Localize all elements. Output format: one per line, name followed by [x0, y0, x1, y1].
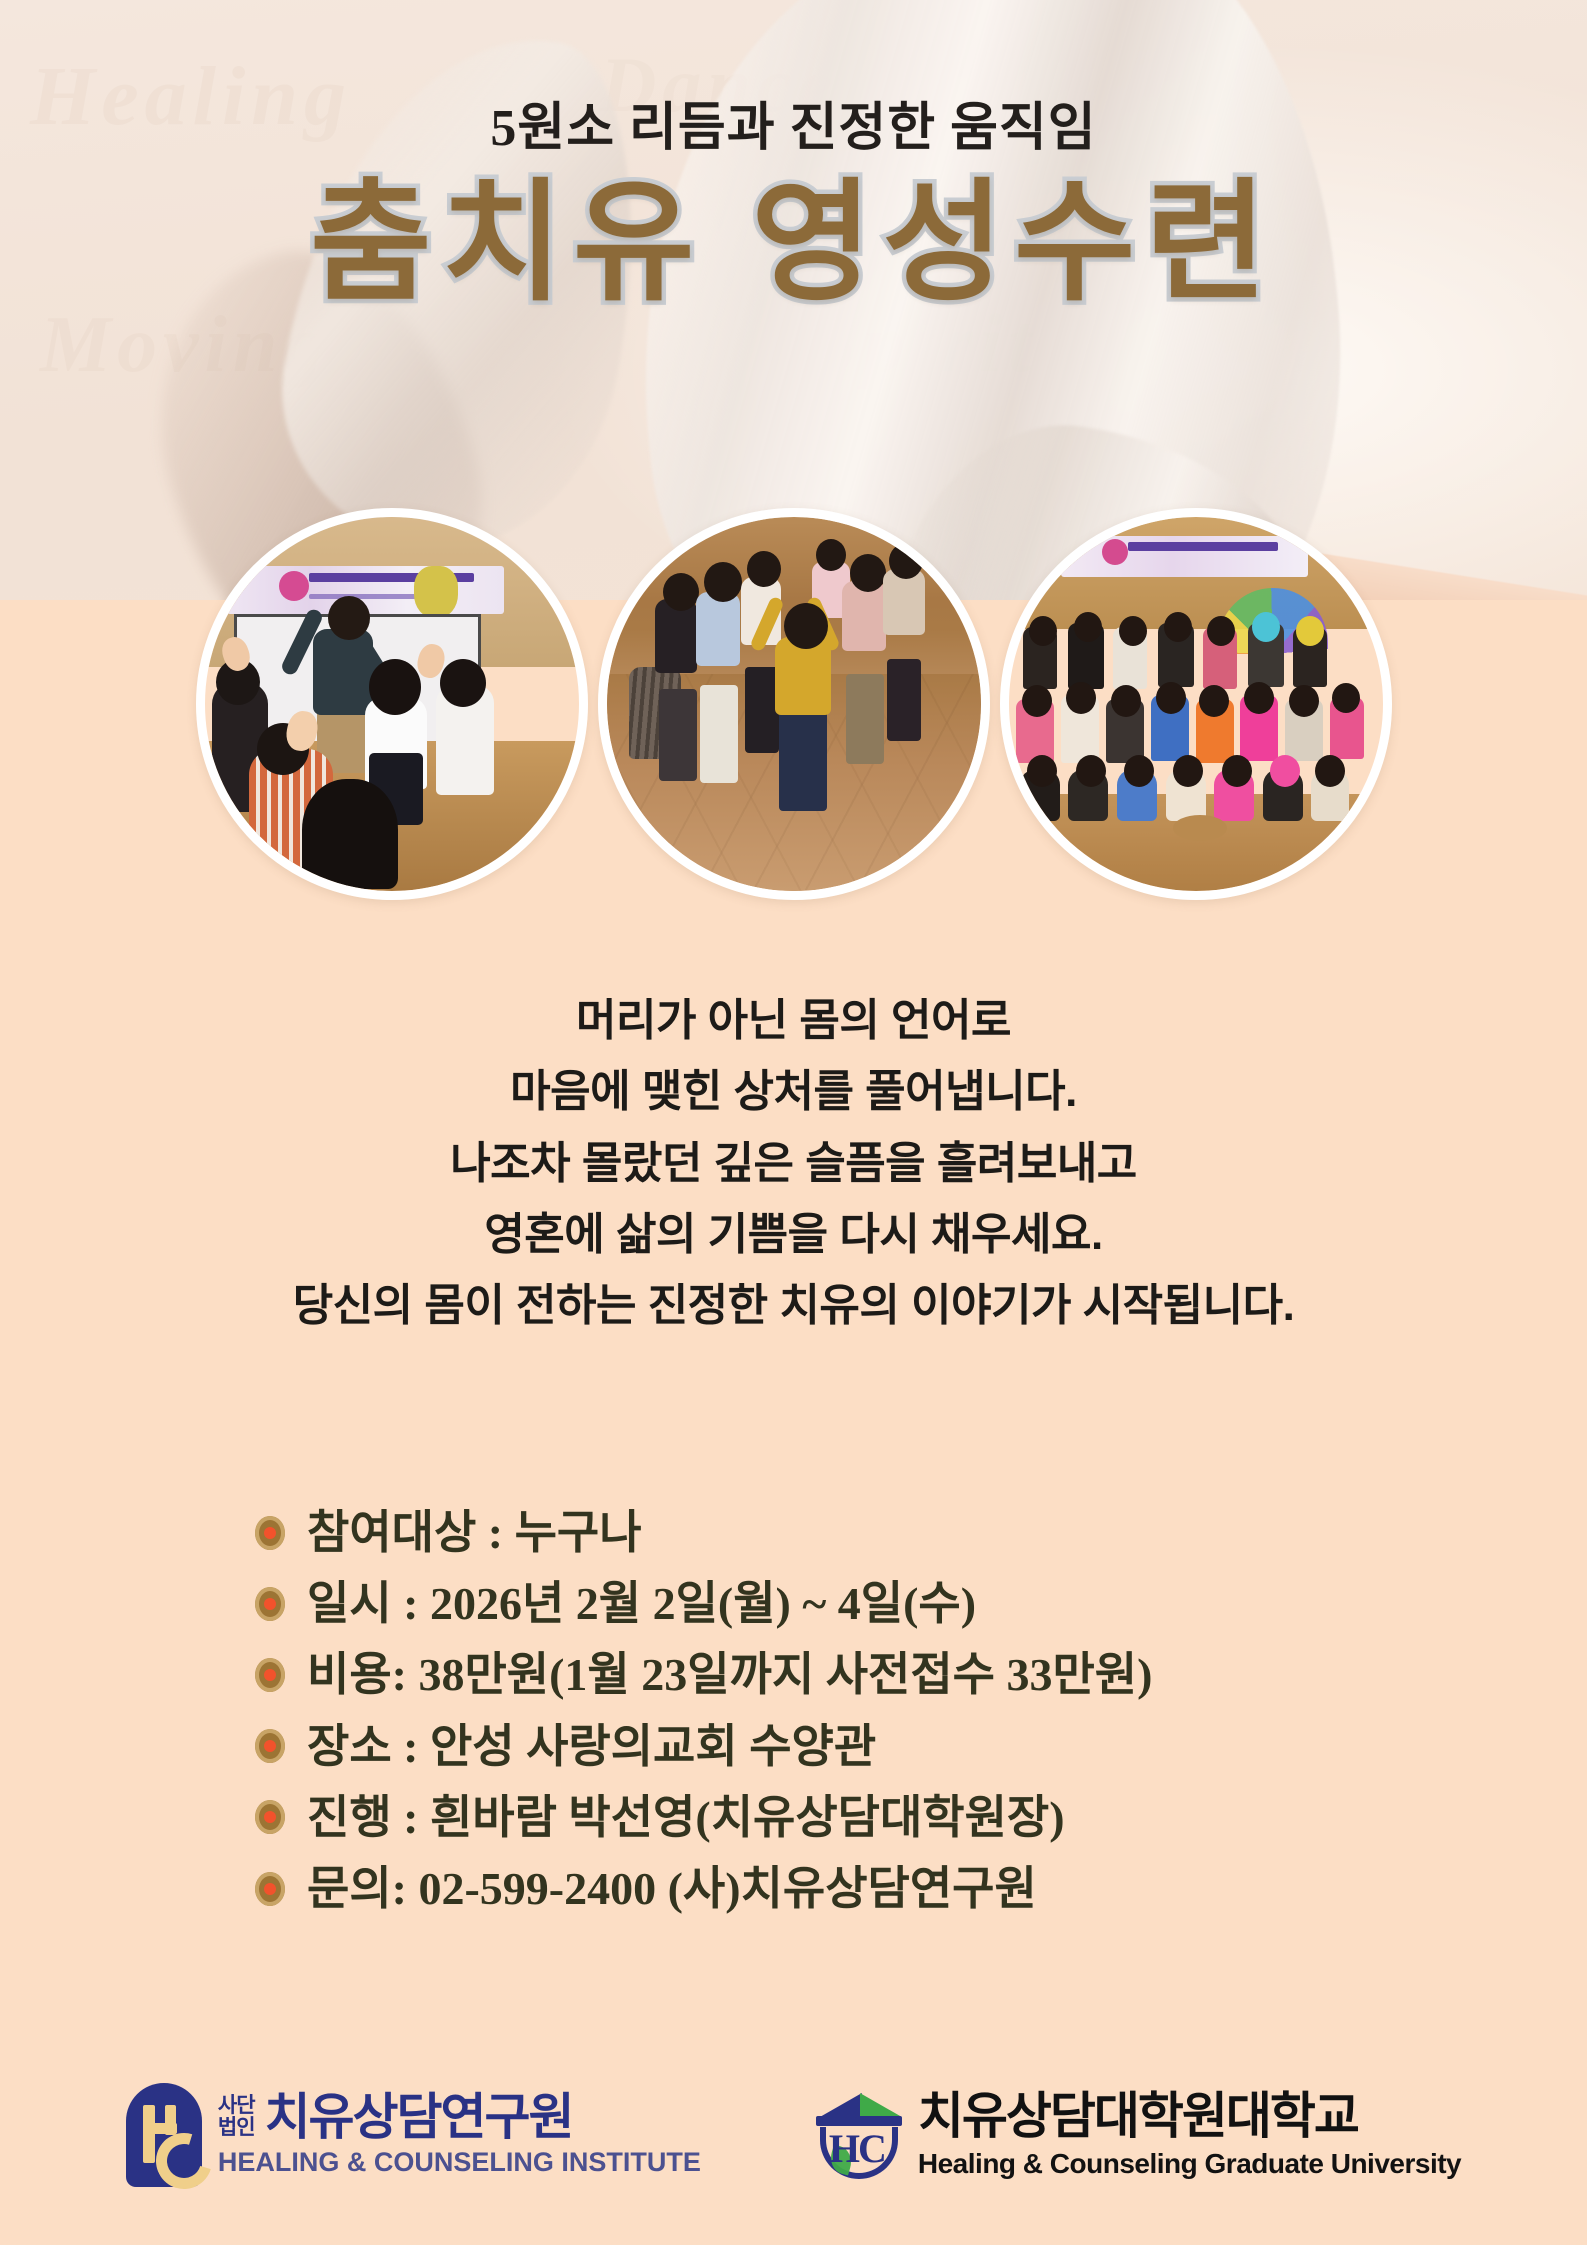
detail-text: 일시 : 2026년 2월 2일(월) ~ 4일(수): [307, 1576, 976, 1631]
hc-shield-icon: [126, 2083, 202, 2187]
title-block: 5원소 리듬과 진정한 움직임 춤치유 영성수련: [0, 100, 1587, 321]
detail-text: 진행 : 흰바람 박선영(치유상담대학원장): [307, 1790, 1065, 1845]
intro-line: 나조차 몰랐던 깊은 슬픔을 흘려보내고: [0, 1128, 1587, 1199]
institute-prefix-line1: 사단: [218, 2095, 255, 2117]
footer-logos: 사단 법인 치유상담연구원 HEALING & COUNSELING INSTI…: [0, 2060, 1587, 2210]
detail-text[interactable]: 문의: 02-599-2400 (사)치유상담연구원: [307, 1861, 1037, 1916]
university-monogram: HC: [829, 2129, 885, 2169]
logo-healing-counseling-institute: 사단 법인 치유상담연구원 HEALING & COUNSELING INSTI…: [126, 2083, 701, 2187]
intro-line: 머리가 아닌 몸의 언어로: [0, 985, 1587, 1056]
detail-row-fee: 비용: 38만원(1월 23일까지 사전접수 33만원): [255, 1647, 1455, 1702]
target-dot-icon: [255, 1729, 285, 1763]
institute-prefix-line2: 법인: [218, 2117, 255, 2139]
target-dot-icon: [255, 1658, 285, 1692]
target-dot-icon: [255, 1872, 285, 1906]
intro-line: 마음에 맺힌 상처를 풀어냅니다.: [0, 1056, 1587, 1127]
hc-building-icon: HC: [816, 2089, 902, 2181]
target-dot-icon: [255, 1587, 285, 1621]
detail-text: 장소 : 안성 사랑의교회 수양관: [307, 1719, 876, 1774]
intro-line: 영혼에 삶의 기쁨을 다시 채우세요.: [0, 1199, 1587, 1270]
detail-row-venue: 장소 : 안성 사랑의교회 수양관: [255, 1719, 1455, 1774]
target-dot-icon: [255, 1800, 285, 1834]
group-portrait-photo: [1000, 508, 1392, 900]
university-name-ko: 치유상담대학원대학교: [918, 2091, 1461, 2141]
poster-subtitle: 5원소 리듬과 진정한 움직임: [0, 100, 1587, 157]
detail-row-contact[interactable]: 문의: 02-599-2400 (사)치유상담연구원: [255, 1861, 1455, 1916]
event-details-list: 참여대상 : 누구나 일시 : 2026년 2월 2일(월) ~ 4일(수) 비…: [255, 1505, 1455, 1932]
poster-title: 춤치유 영성수련: [0, 165, 1587, 321]
target-dot-icon: [255, 1516, 285, 1550]
detail-row-date: 일시 : 2026년 2월 2일(월) ~ 4일(수): [255, 1576, 1455, 1631]
stage-leader-photo: [196, 508, 588, 900]
university-name-en: Healing & Counseling Graduate University: [918, 2148, 1461, 2180]
detail-text: 비용: 38만원(1월 23일까지 사전접수 33만원): [307, 1647, 1152, 1702]
institute-name-en: HEALING & COUNSELING INSTITUTE: [218, 2147, 701, 2178]
photo-gallery: [0, 508, 1587, 908]
logo-healing-counseling-university: HC 치유상담대학원대학교 Healing & Counseling Gradu…: [816, 2089, 1461, 2181]
institute-prefix: 사단 법인: [218, 2095, 255, 2139]
group-dancing-photo: [598, 508, 990, 900]
detail-row-audience: 참여대상 : 누구나: [255, 1505, 1455, 1560]
poster-root: Healing Dance Moving Spirit 5원소 리듬과 진정한 …: [0, 0, 1587, 2245]
institute-name-ko: 치유상담연구원: [265, 2092, 573, 2142]
detail-text: 참여대상 : 누구나: [307, 1505, 642, 1560]
intro-paragraph: 머리가 아닌 몸의 언어로 마음에 맺힌 상처를 풀어냅니다. 나조차 몰랐던 …: [0, 985, 1587, 1341]
intro-line: 당신의 몸이 전하는 진정한 치유의 이야기가 시작됩니다.: [0, 1270, 1587, 1341]
detail-row-facilitator: 진행 : 흰바람 박선영(치유상담대학원장): [255, 1790, 1455, 1845]
